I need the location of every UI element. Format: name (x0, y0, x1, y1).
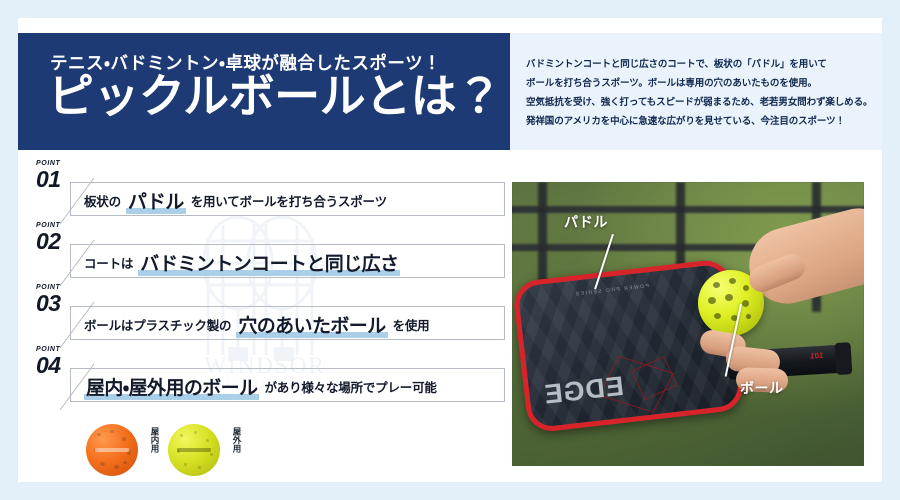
ball-label-indoor: 屋内用 (144, 427, 160, 453)
paddle-micro-text: POWER PRO SERIES (574, 283, 649, 297)
ball-label-outdoor: 屋外用 (226, 427, 242, 453)
point-phrase: ボールはプラスチック製の (84, 315, 231, 334)
infographic-root: WINDSOR RACQUET SPORTS テニス・バドミントン・卓球が融合し… (0, 0, 900, 500)
point-text: コートはバドミントンコートと同じ広さ (84, 246, 400, 278)
page-title: ピックルボールとは？ (48, 73, 502, 119)
handle-cap (834, 342, 852, 375)
highlighted-phrase: パドル (126, 187, 186, 214)
description-line: 発祥国のアメリカを中心に急速な広がりを見せている、今注目のスポーツ！ (526, 112, 876, 131)
point-text: ボールはプラスチック製の穴のあいたボールを使用 (84, 308, 429, 340)
highlighted-phrase: 屋内・屋外用のボール (84, 373, 259, 400)
description-text: バドミントンコートと同じ広さのコートで、板状の「パドル」を用いて ボールを打ち合… (526, 55, 876, 131)
description-panel: バドミントンコートと同じ広さのコートで、板状の「パドル」を用いて ボールを打ち合… (510, 33, 882, 150)
highlighted-phrase: 穴のあいたボール (236, 311, 387, 338)
header-band: テニス・バドミントン・卓球が融合したスポーツ！ ピックルボールとは？ (18, 33, 510, 150)
point-phrase: があり様々な場所でプレー可能 (264, 377, 436, 396)
points-list: POINT 01 板状のパドルを用いてボールを打ち合うスポーツ POINT 02… (18, 160, 508, 410)
description-line: 空気抵抗を受け、強く打ってもスピードが弱まるため、老若男女問わず楽しめる。 (526, 93, 876, 112)
point-phrase: を用いてボールを打ち合うスポーツ (191, 191, 387, 210)
outdoor-ball-icon (168, 424, 220, 476)
point-text: 屋内・屋外用のボールがあり様々な場所でプレー可能 (84, 370, 437, 402)
point-text: 板状のパドルを用いてボールを打ち合うスポーツ (84, 184, 387, 216)
ball-item-indoor: 屋内用 (86, 421, 176, 479)
point-phrase: 板状の (84, 191, 121, 210)
ball-item-outdoor: 屋外用 (168, 421, 258, 479)
indoor-ball-icon (86, 424, 138, 476)
handle-logo: 101 (810, 351, 824, 361)
callout-label-paddle: パドル (564, 212, 608, 232)
ball-types: 屋内用 屋外用 (18, 415, 508, 485)
description-line: ボールを打ち合うスポーツ。ボールは専用の穴のあいたものを使用。 (526, 74, 876, 93)
description-line: バドミントンコートと同じ広さのコートで、板状の「パドル」を用いて (526, 55, 876, 74)
highlighted-phrase: バドミントンコートと同じ広さ (138, 249, 400, 276)
pickleball-photo: POWER PRO SERIES EDGE 101 (512, 182, 864, 466)
paddle-brand-text: EDGE (542, 371, 626, 411)
point-phrase: を使用 (393, 315, 430, 334)
callout-label-ball: ボール (740, 378, 784, 398)
point-phrase: コートは (84, 253, 133, 272)
